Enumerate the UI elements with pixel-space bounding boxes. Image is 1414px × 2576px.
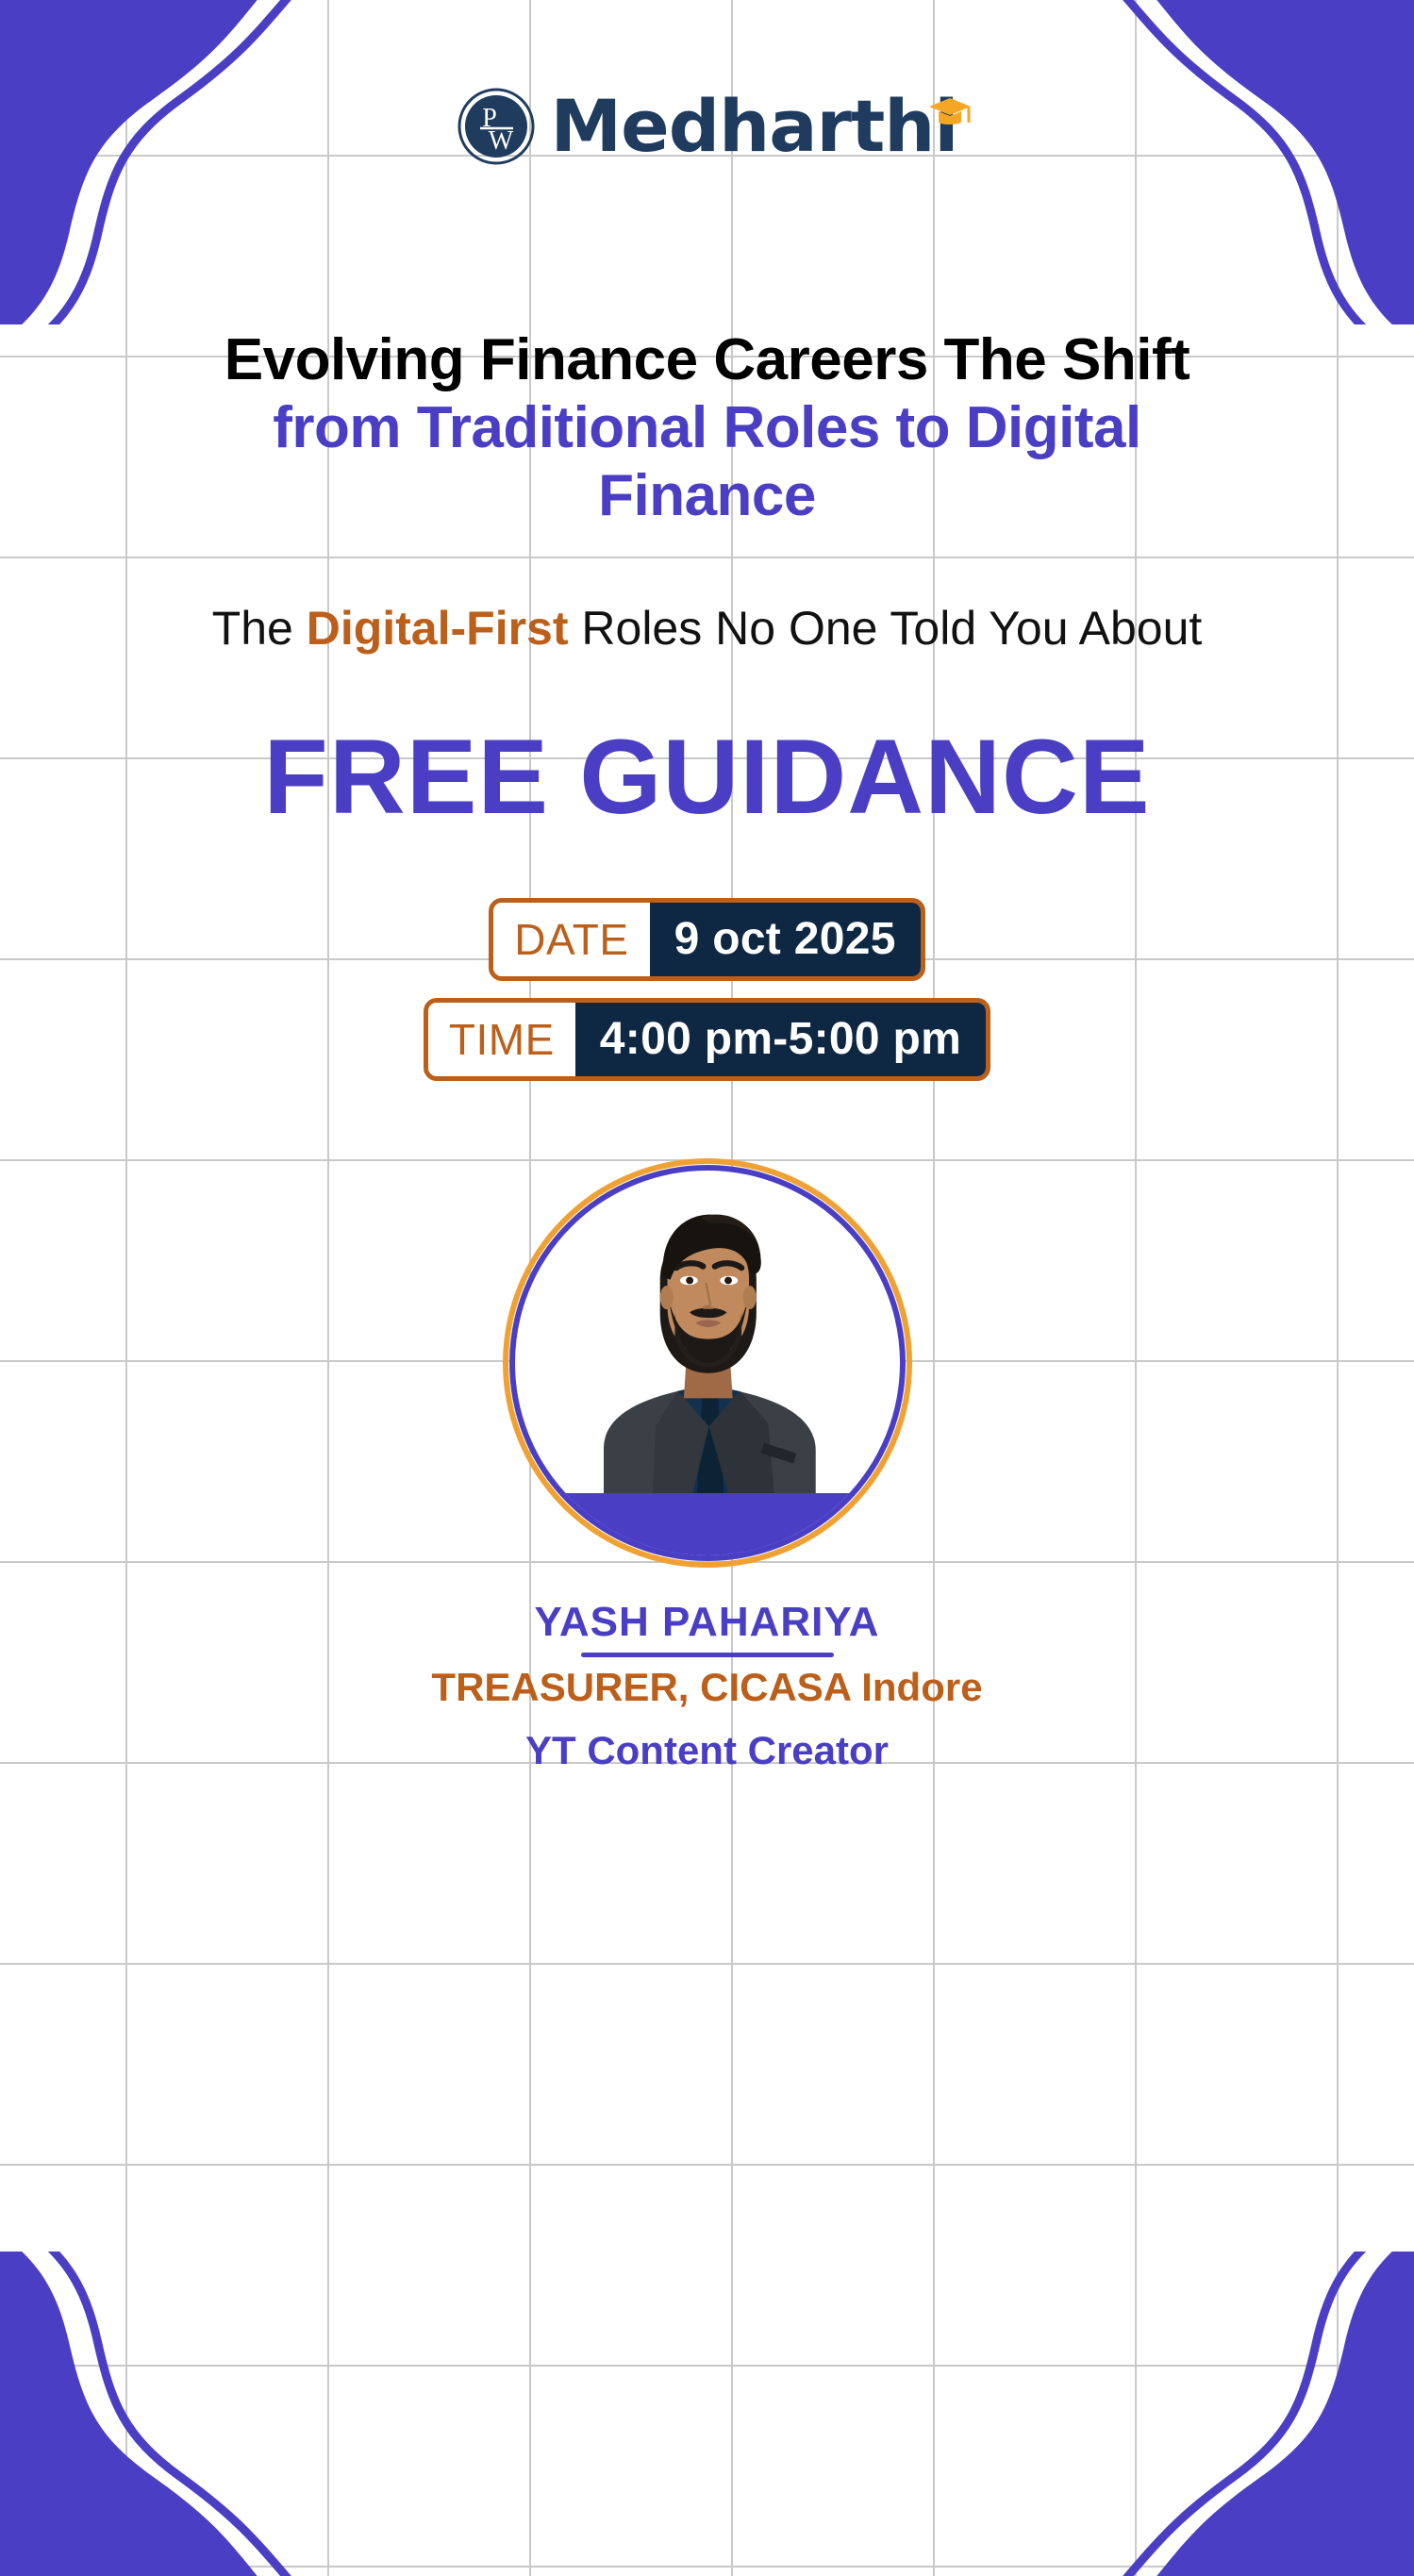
photo-base-band [515,1493,900,1555]
headline-line-1: Evolving Finance Careers The Shift [99,326,1316,394]
date-badge: DATE 9 oct 2025 [489,898,924,981]
subtitle-highlight: Digital-First [307,602,569,655]
speaker-name: YASH PAHARIYA [189,1600,1226,1645]
subtitle-after: Roles No One Told You About [569,602,1203,655]
speaker-role: TREASURER, CICASA Indore [189,1663,1226,1713]
event-details: DATE 9 oct 2025 TIME 4:00 pm-5:00 pm [424,898,990,1081]
svg-text:W: W [488,126,513,156]
pw-monogram-icon: P W [457,87,536,166]
brand-logo: P W Medharthi [457,87,958,166]
speaker-extra: YT Content Creator [189,1726,1226,1776]
poster-canvas: P W Medharthi Evolving Finance Careers T [0,0,1414,2576]
poster-headline: Evolving Finance Careers The Shift from … [99,326,1316,530]
headline-line-2: from Traditional Roles to Digital [99,394,1316,462]
free-guidance-title: FREE GUIDANCE [263,724,1150,830]
time-badge: TIME 4:00 pm-5:00 pm [424,998,990,1081]
speaker-info: YASH PAHARIYA TREASURER, CICASA Indore Y… [189,1600,1226,1775]
poster-content: P W Medharthi Evolving Finance Careers T [0,0,1414,2576]
date-badge-value: 9 oct 2025 [650,903,921,976]
brand-logo-text: Medharthi [551,91,958,162]
time-badge-label: TIME [428,1003,575,1076]
time-badge-value: 4:00 pm-5:00 pm [575,1003,986,1076]
speaker-name-underline [581,1653,834,1657]
photo-ring-purple [509,1165,906,1561]
subtitle-before: The [212,602,307,655]
date-badge-label: DATE [493,903,649,976]
poster-subtitle: The Digital-First Roles No One Told You … [38,600,1377,656]
speaker-portrait-image [515,1182,900,1493]
headline-line-3: Finance [99,462,1316,530]
speaker-photo [503,1158,912,1568]
graduation-cap-icon [927,70,973,104]
